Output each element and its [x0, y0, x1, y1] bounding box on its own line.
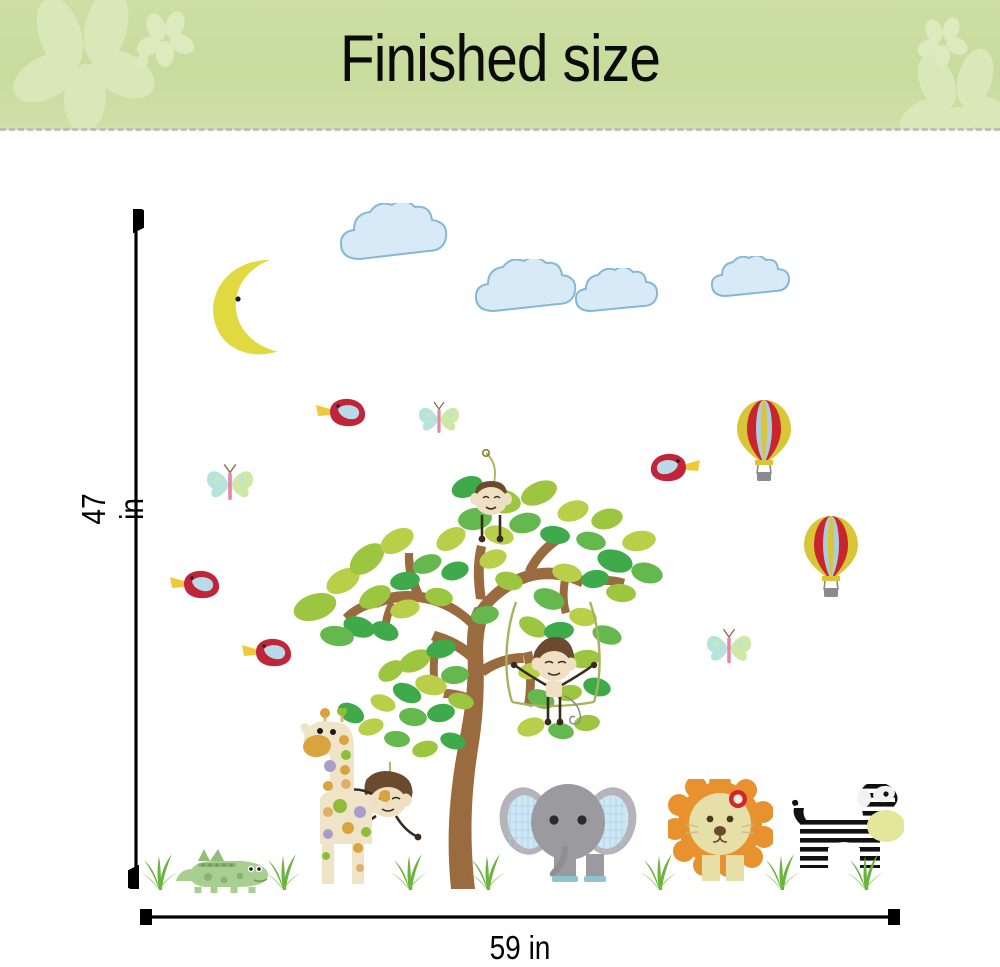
- hot-air-balloon-2-icon: [800, 514, 862, 604]
- cloud-2-icon: [472, 259, 587, 317]
- butterfly-3-icon: [702, 626, 756, 670]
- monkey-on-swing-icon: [498, 596, 608, 731]
- giraffe-icon: [300, 708, 390, 890]
- cloud-3-icon: [574, 268, 659, 316]
- grass-tuft: [264, 846, 302, 890]
- bird-1-icon: [314, 396, 372, 428]
- grass-tuft: [762, 846, 800, 890]
- butterfly-1-icon: [415, 399, 463, 439]
- width-measure-arrow: [140, 909, 900, 925]
- bird-3-icon: [240, 636, 298, 668]
- header-banner: Finished size: [0, 0, 1000, 130]
- grass-tuft: [846, 846, 884, 890]
- elephant-icon: [498, 776, 638, 891]
- monkey-hanging-top-icon: [456, 449, 526, 554]
- hot-air-balloon-1-icon: [733, 398, 795, 488]
- grass-tuft: [468, 846, 506, 890]
- cloud-1-icon: [336, 203, 456, 265]
- grass-tuft: [140, 846, 178, 890]
- height-label: 47 in: [75, 479, 151, 539]
- illustration-canvas: 47 in 59 in: [0, 131, 1000, 964]
- crocodile-icon: [168, 837, 273, 893]
- grass-tuft: [390, 846, 428, 890]
- width-label: 59 in: [393, 929, 648, 967]
- zebra-icon: [786, 766, 904, 894]
- bird-2-icon: [168, 568, 226, 600]
- lion-icon: [668, 779, 773, 891]
- butterfly-2-icon: [202, 461, 258, 507]
- page-title: Finished size: [70, 18, 930, 98]
- height-measure-arrow: [128, 209, 144, 889]
- grass-tuft: [640, 846, 678, 890]
- crescent-moon-icon: [205, 256, 300, 361]
- cloud-4-icon: [710, 256, 792, 301]
- bird-4-icon: [644, 451, 702, 483]
